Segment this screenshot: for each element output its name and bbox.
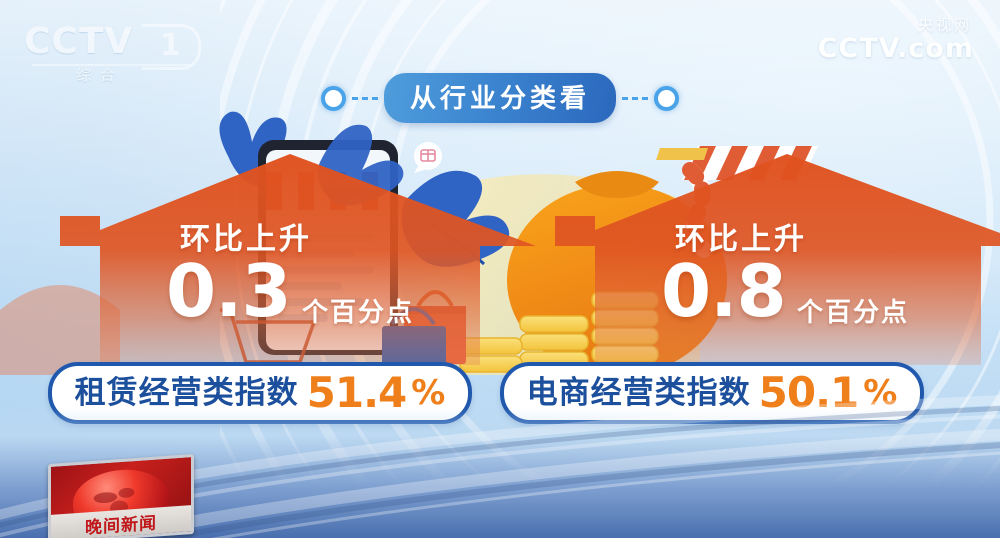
house-shape-leasing	[60, 150, 540, 365]
dashed-line-icon-right	[622, 97, 648, 100]
program-title: 晚间新闻	[85, 508, 157, 538]
program-title-bar: 晚间新闻	[51, 505, 191, 538]
house-shape-ecommerce	[555, 150, 1000, 365]
cctv1-logo-number: 1	[160, 28, 181, 63]
circle-dot-icon-right	[654, 86, 679, 111]
program-logo-bug: 晚间新闻	[48, 454, 194, 538]
page-title: 从行业分类看	[384, 73, 616, 123]
cctv1-divider	[32, 64, 192, 66]
cctv1-channel-logo: CCTV 1 综合	[24, 22, 204, 84]
cctv-com-chinese-text: 央视网	[818, 18, 972, 34]
cctv-com-english-text: CCTV.com	[818, 34, 974, 64]
dashed-line-icon-left	[352, 97, 378, 100]
circle-dot-icon-left	[321, 86, 346, 111]
broadcast-graphic: 环比上升 0.3 个百分点 环比上升 0.8 个百分点 从行业分类看	[0, 0, 1000, 538]
cctv-com-watermark: 央视网 CCTV.com	[818, 18, 974, 64]
